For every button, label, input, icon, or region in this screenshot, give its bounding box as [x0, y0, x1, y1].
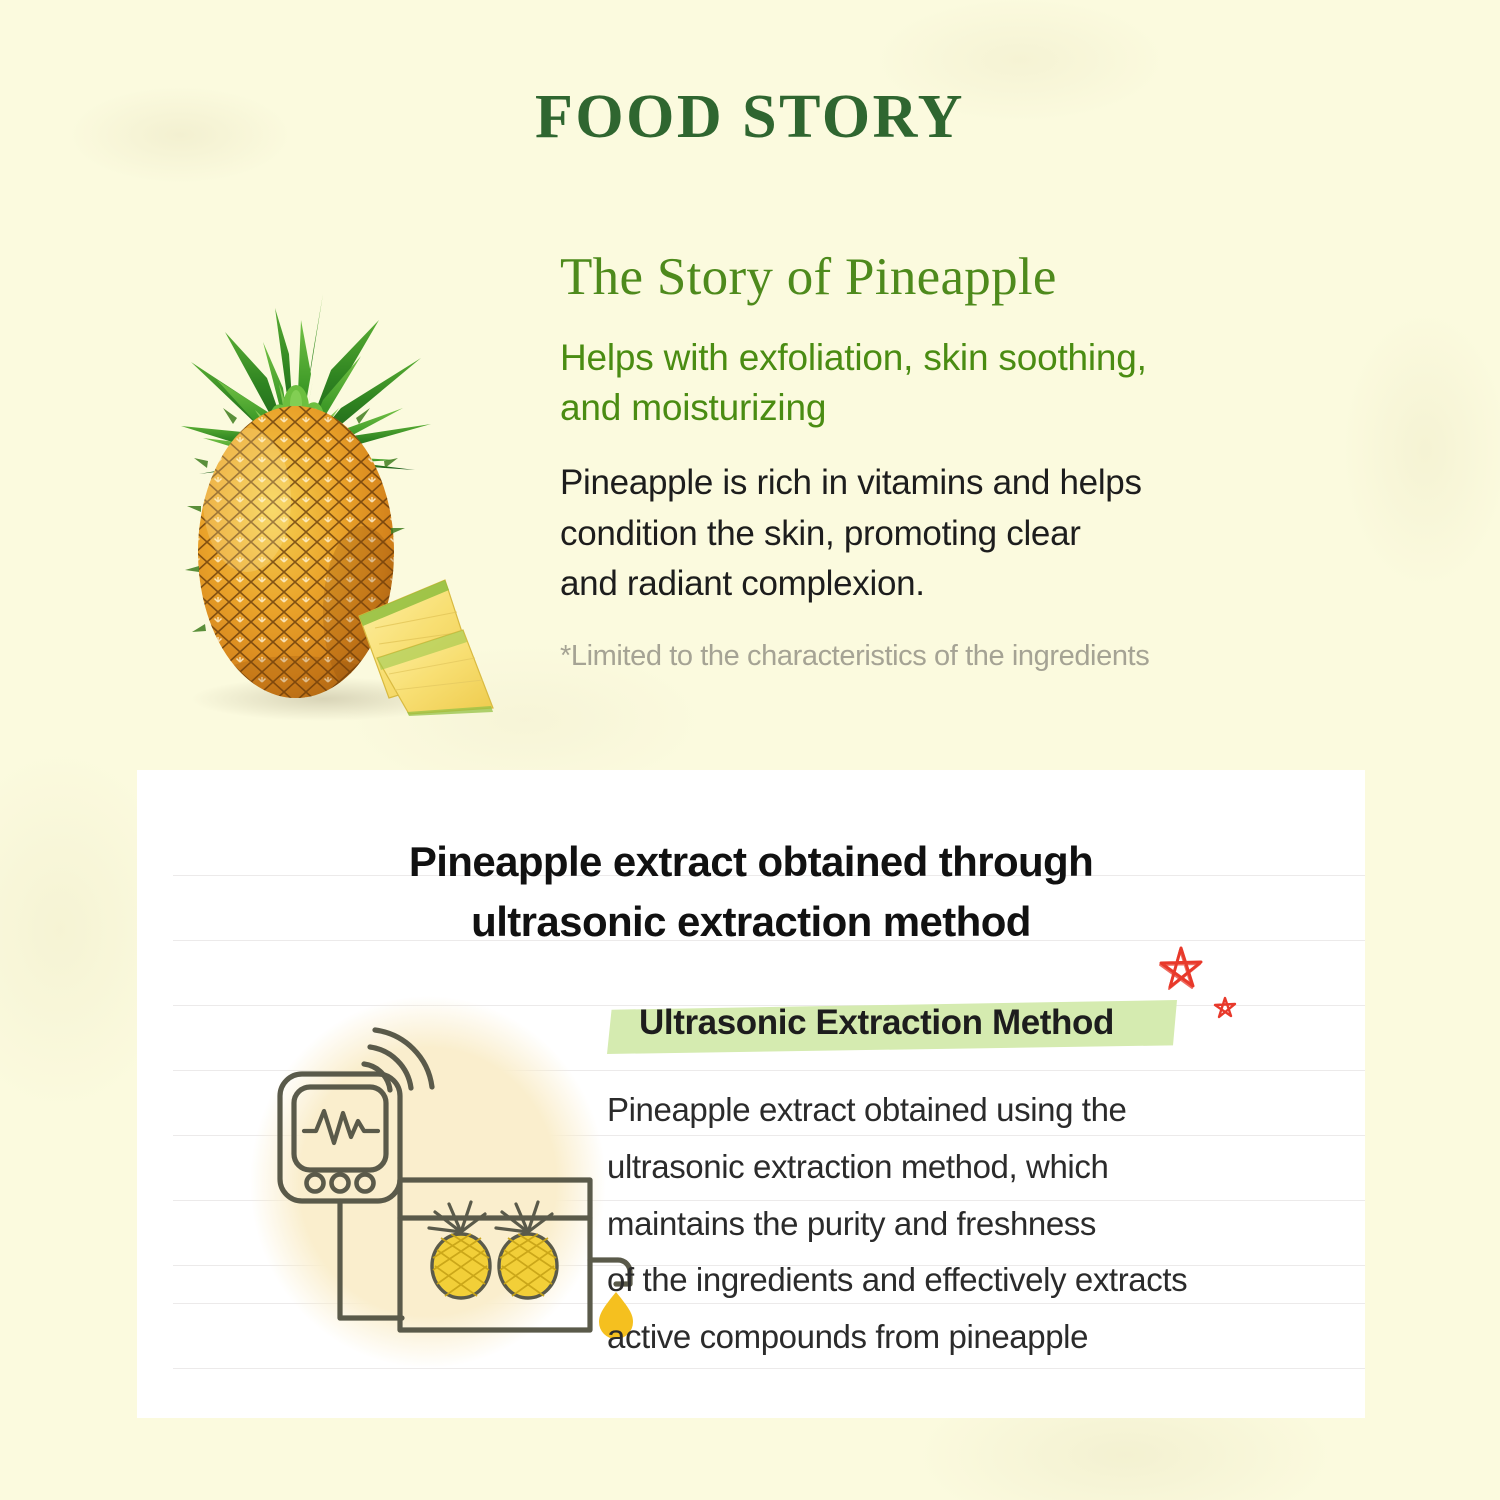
- extract-card-title-line: Pineapple extract obtained through: [137, 832, 1365, 892]
- story-body-text: Pineapple is rich in vitamins and helps …: [560, 458, 1340, 610]
- story-text-column: The Story of Pineapple Helps with exfoli…: [560, 248, 1340, 673]
- story-benefit-line: and moisturizing: [560, 383, 1340, 432]
- extract-card-title: Pineapple extract obtained through ultra…: [137, 832, 1365, 951]
- extract-method-card: Pineapple extract obtained through ultra…: [137, 770, 1365, 1418]
- method-badge-row: Ultrasonic Extraction Method: [607, 992, 1327, 1056]
- method-body-text: Pineapple extract obtained using the ult…: [607, 1082, 1327, 1366]
- extract-card-title-line: ultrasonic extraction method: [137, 892, 1365, 952]
- story-body-line: condition the skin, promoting clear: [560, 509, 1340, 560]
- method-body-line: maintains the purity and freshness: [607, 1196, 1327, 1253]
- method-body-line: ultrasonic extraction method, which: [607, 1139, 1327, 1196]
- method-body-line: Pineapple extract obtained using the: [607, 1082, 1327, 1139]
- story-benefit-text: Helps with exfoliation, skin soothing, a…: [560, 333, 1340, 431]
- method-body-line: of the ingredients and effectively extra…: [607, 1252, 1327, 1309]
- ultrasonic-extraction-machine-illustration: [242, 992, 642, 1377]
- story-disclaimer-note: *Limited to the characteristics of the i…: [560, 640, 1340, 673]
- method-badge-label: Ultrasonic Extraction Method: [639, 1003, 1114, 1043]
- method-body-line: active compounds from pineapple: [607, 1309, 1327, 1366]
- story-benefit-line: Helps with exfoliation, skin soothing,: [560, 333, 1340, 382]
- method-text-column: Ultrasonic Extraction Method Pineapple e…: [607, 992, 1327, 1366]
- story-heading: The Story of Pineapple: [560, 248, 1340, 307]
- story-body-line: Pineapple is rich in vitamins and helps: [560, 458, 1340, 509]
- pineapple-with-slices-photo: [163, 212, 515, 724]
- page-title: FOOD STORY: [0, 82, 1500, 153]
- story-body-line: and radiant complexion.: [560, 559, 1340, 610]
- red-star-doodle: [1147, 944, 1257, 1034]
